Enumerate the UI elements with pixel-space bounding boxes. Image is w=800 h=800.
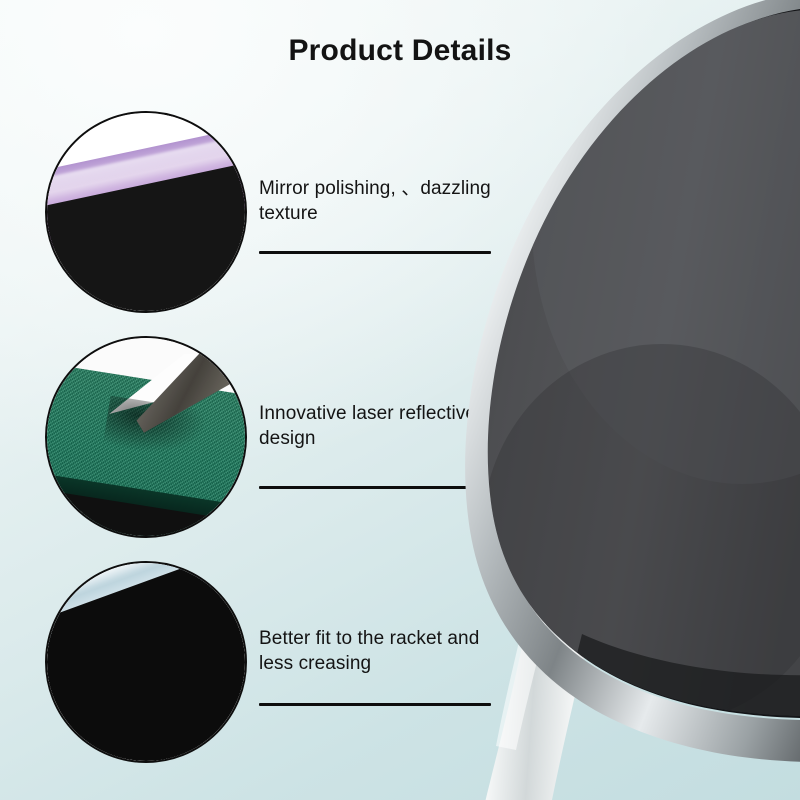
feature-caption-text: Innovative laser reflective design xyxy=(259,401,504,451)
feature-divider-rule xyxy=(259,251,491,254)
feature-divider-rule xyxy=(259,703,491,706)
feature-thumbnail-purple-edge xyxy=(45,111,247,313)
product-details-page: Product Details Mirror polishing, 、dazzl… xyxy=(0,0,800,800)
feature-caption: Better fit to the racket and less creasi… xyxy=(259,626,504,676)
feature-caption: Innovative laser reflective design xyxy=(259,401,504,451)
racket-throat xyxy=(550,410,626,492)
page-title: Product Details xyxy=(0,34,800,68)
feature-caption-text: Better fit to the racket and less creasi… xyxy=(259,626,504,676)
feature-row: Innovative laser reflective design xyxy=(0,333,520,543)
feature-caption: Mirror polishing, 、dazzling texture xyxy=(259,176,504,226)
feature-thumbnail-green-glitter xyxy=(45,336,247,538)
feature-row: Better fit to the racket and less creasi… xyxy=(0,558,520,768)
feature-row: Mirror polishing, 、dazzling texture xyxy=(0,108,520,318)
racket-rim-shadow-line xyxy=(490,8,800,718)
feature-thumbnail-silver-edge xyxy=(45,561,247,763)
feature-divider-rule xyxy=(259,486,491,489)
feature-caption-text: Mirror polishing, 、dazzling texture xyxy=(259,176,504,226)
